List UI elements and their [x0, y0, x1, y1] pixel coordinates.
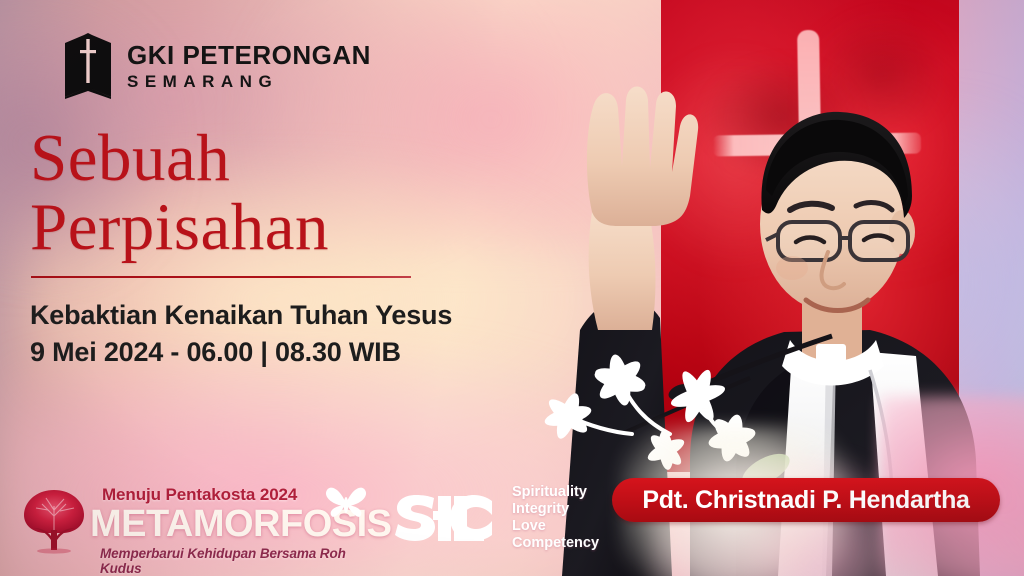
silc-value-integrity: Integrity — [512, 501, 599, 518]
silc-value-spirituality: Spirituality — [512, 484, 599, 501]
silc-logo: Spirituality Integrity Love Competency — [392, 484, 599, 552]
event-details: Kebaktian Kenaikan Tuhan Yesus 9 Mei 202… — [30, 297, 452, 372]
title-divider — [31, 276, 411, 278]
metamorfosis-lockup: Menuju Pentakosta 2024 METAMORFOSIS Memp… — [18, 480, 368, 566]
silc-value-competency: Competency — [512, 535, 599, 552]
headline-line-1: Sebuah — [30, 121, 230, 195]
silc-values: Spirituality Integrity Love Competency — [512, 484, 599, 552]
silc-mark-icon — [392, 487, 500, 549]
headline-line-2: Perpisahan — [30, 193, 329, 262]
gki-logo-subtitle: SEMARANG — [127, 73, 371, 90]
metamorfosis-tagline: Memperbarui Kehidupan Bersama Roh Kudus — [100, 546, 370, 576]
gki-logo-text: GKI PETERONGAN SEMARANG — [127, 42, 371, 90]
event-service-name: Kebaktian Kenaikan Tuhan Yesus — [30, 300, 452, 330]
event-poster: GKI PETERONGAN SEMARANG Sebuah Perpisaha… — [0, 0, 1024, 576]
page-title: Sebuah Perpisahan — [30, 124, 329, 262]
speaker-name: Pdt. Christnadi P. Hendartha — [642, 486, 969, 515]
church-book-cross-icon — [63, 33, 113, 99]
red-tree-icon — [18, 484, 90, 556]
silc-value-love: Love — [512, 518, 599, 535]
gki-logo-title: GKI PETERONGAN — [127, 42, 371, 68]
butterfly-icon — [323, 482, 369, 524]
speaker-name-badge: Pdt. Christnadi P. Hendartha — [612, 478, 1000, 522]
event-datetime: 9 Mei 2024 - 06.00 | 08.30 WIB — [30, 334, 452, 371]
gki-logo: GKI PETERONGAN SEMARANG — [63, 33, 371, 99]
